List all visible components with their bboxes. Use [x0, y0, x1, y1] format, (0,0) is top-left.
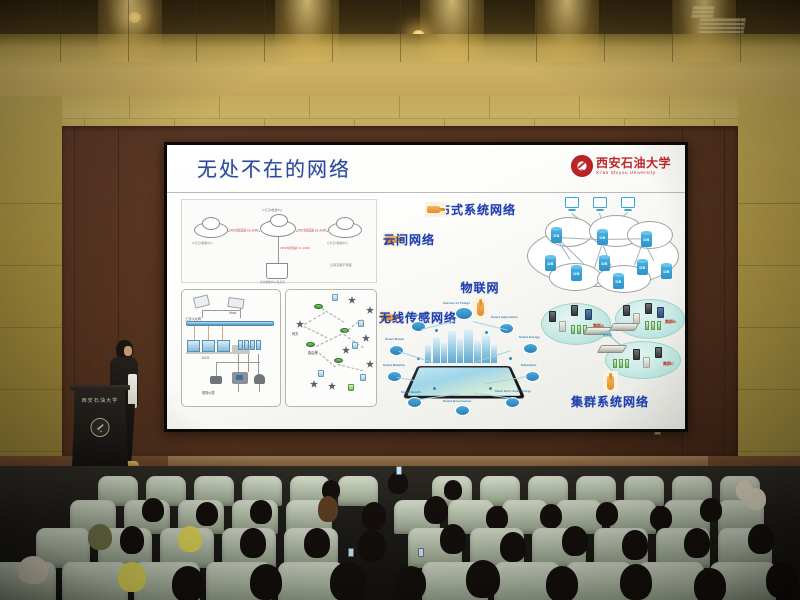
stone-tile [0, 204, 62, 266]
audience-head [358, 530, 386, 562]
iot-link-dot [509, 357, 512, 360]
cloud-shape [270, 214, 288, 227]
presentation-slide: 无处不在的网络 西安石油大学 Xi'an Shiyou University [167, 145, 685, 429]
label-iot-text: 物联网 [457, 279, 503, 296]
diagram-industrial: Host 工业以太网 DCS [181, 289, 281, 407]
wall-panel-seam [536, 0, 537, 62]
db-node: DB [571, 267, 582, 281]
audience-head [196, 502, 218, 526]
iot-caption: Open Data [407, 313, 423, 317]
server-node [643, 357, 650, 368]
audience-head [766, 562, 798, 598]
host-label: Host [229, 311, 236, 315]
diagram-cluster: 集群A 集群B 集群C [541, 297, 685, 381]
audience-head [684, 528, 710, 558]
sensor-antenna-icon [342, 346, 350, 354]
io-card [238, 340, 243, 350]
server-node [645, 303, 652, 314]
city-building [441, 343, 447, 363]
field-link [258, 354, 259, 376]
db-node: DB [545, 257, 556, 271]
link-label: VPN/专线链路 10~100M [297, 228, 327, 232]
audience-head [88, 524, 112, 550]
storage-rack [577, 325, 581, 334]
audience-head [388, 472, 408, 494]
audience-head [18, 556, 48, 584]
cloud-shape [202, 217, 220, 230]
iot-caption: Smart Health [401, 390, 421, 394]
iot-caption: Smart Grid / Smart Energy [495, 390, 531, 393]
presenter-scarf [128, 374, 137, 408]
field-link [216, 362, 260, 363]
iot-caption: Smart Governance [443, 399, 471, 403]
sensor-node [348, 384, 354, 391]
router-node [306, 342, 315, 347]
label-cluster-text: 集群系统网络 [555, 393, 665, 410]
university-seal-icon [571, 155, 593, 177]
db-node: DB [613, 275, 624, 289]
server-node [657, 307, 664, 318]
stone-tile [738, 328, 800, 390]
stone-tile [738, 142, 800, 204]
wsn-link [316, 334, 342, 347]
iot-caption: Education [521, 363, 536, 367]
storage-rack [613, 359, 617, 368]
logo-text-block: 西安石油大学 Xi'an Shiyou University [596, 157, 671, 176]
label-distributed: 分布式系统网络 [425, 201, 516, 218]
server-node [559, 321, 566, 332]
sensor-antenna-icon [366, 306, 374, 314]
diagram-caption: 云间互联示意图 [330, 263, 352, 267]
sensor-antenna-icon [310, 380, 318, 388]
io-card [256, 340, 261, 350]
audience-head [240, 528, 266, 558]
valve-icon [254, 374, 265, 384]
audience-head [444, 480, 462, 500]
stone-tile [0, 142, 62, 204]
university-logo: 西安石油大学 Xi'an Shiyou University [571, 155, 671, 177]
client-monitor-icon [565, 197, 579, 208]
io-card [244, 340, 249, 350]
wall-panel-seam [60, 0, 61, 62]
net-link [202, 310, 203, 318]
cloud-caption: 公有云B数据中心 [262, 208, 283, 212]
iot-node [523, 343, 538, 354]
city-building [464, 329, 473, 363]
iot-caption: Smart Energy [519, 335, 540, 339]
cloud-caption: 公有云C数据中心 [327, 241, 348, 245]
slide-title: 无处不在的网络 [197, 153, 351, 182]
sensor-antenna-icon [362, 334, 370, 342]
instrument-stem [259, 384, 260, 392]
wall-light-glow [535, 0, 599, 62]
audience-phone [348, 548, 354, 557]
server-node [633, 349, 640, 360]
audience-head [622, 530, 648, 560]
net-link [194, 326, 195, 340]
city-building [448, 331, 456, 363]
audience-head [620, 564, 652, 600]
db-node: DB [597, 231, 608, 245]
db-node: DB [641, 233, 652, 247]
wall-light-glow [275, 0, 339, 62]
pointing-hand-icon [603, 371, 618, 392]
wsn-link [321, 308, 344, 323]
audience-head [748, 524, 774, 554]
instrument-display [236, 375, 243, 380]
gateway-label: 网关 [292, 331, 298, 336]
db-node: DB [661, 265, 672, 279]
pointing-hand-icon [425, 202, 446, 217]
instrument-stem [238, 384, 239, 392]
audience-head [120, 526, 144, 554]
slide-header: 无处不在的网络 西安石油大学 Xi'an Shiyou University [167, 145, 685, 193]
sensor-antenna-icon [348, 296, 356, 304]
label-intercloud: 云间网络 [383, 231, 435, 248]
podium-emblem-icon [91, 418, 110, 437]
server-node [623, 305, 630, 316]
storage-rack [625, 359, 629, 368]
field-link [248, 354, 249, 372]
dcs-label: DCS [202, 356, 209, 360]
dcs-unit [187, 340, 200, 352]
storage-rack [645, 321, 649, 330]
audience-head [440, 524, 466, 554]
cloud-link [278, 237, 279, 264]
logo-name-cn: 西安石油大学 [596, 157, 671, 169]
iot-caption: Internet of Things [443, 301, 470, 305]
client-monitor-icon [593, 197, 607, 208]
audience-head [466, 560, 500, 598]
diagram-iot: Internet of Things Open Data Smart Agric… [381, 299, 549, 421]
client-monitor-icon [621, 197, 635, 208]
iot-node [411, 321, 426, 332]
ethernet-label: 工业以太网 [185, 316, 201, 321]
logo-name-en: Xi'an Shiyou University [596, 171, 671, 176]
city-building [457, 339, 463, 363]
diagram-intercloud: VPN/专线链路 10~100M VPN/专线链路 10~100M VPN/专线… [181, 199, 377, 283]
iot-link-dot [435, 329, 438, 332]
audience-head [694, 568, 726, 600]
dcs-unit [217, 340, 230, 352]
audience-area [0, 466, 800, 600]
audience-head [700, 498, 722, 522]
ethernet-bus [186, 321, 274, 326]
db-node: DB [599, 257, 610, 271]
dcs-rail [186, 352, 232, 354]
wall-light-glow [420, 0, 484, 62]
cloud-caption: 公有云A数据中心 [192, 241, 213, 245]
net-link [240, 308, 241, 318]
sensor-node [318, 370, 324, 377]
sensor-node [332, 294, 338, 301]
iot-caption: Smart Agriculture [491, 315, 518, 319]
diagram-distributed: DB DB DB DB DB DB DB DB DB [519, 193, 685, 303]
router-node [334, 358, 343, 363]
stone-tile [220, 96, 310, 119]
io-card [250, 340, 255, 350]
wall-panel-seam [400, 0, 401, 62]
city-building [433, 337, 440, 363]
wall-panel-seam [332, 0, 333, 62]
audience-head [250, 500, 272, 524]
iot-link-dot [489, 387, 492, 390]
audience-head [330, 562, 366, 600]
audience-head [596, 502, 618, 526]
wall-panel-seam [604, 0, 605, 62]
stone-tile [580, 96, 670, 119]
field-link [216, 362, 217, 376]
wall-light-glow [672, 0, 736, 62]
right-wall [738, 96, 800, 468]
wall-panel-seam [672, 0, 673, 62]
iot-link [421, 320, 456, 329]
audience-head [500, 532, 526, 562]
stone-tile [310, 96, 400, 119]
sensor-antenna-icon [366, 360, 374, 368]
stone-tile [738, 266, 800, 328]
stone-tile [0, 328, 62, 390]
cluster-tag: 集群C [663, 361, 674, 367]
diagram-wsn: 网关 路由器 [285, 289, 377, 407]
iot-hub-node [455, 307, 473, 320]
audience-phone [418, 548, 424, 557]
wall-panel-seam [468, 0, 469, 62]
db-node: DB [637, 261, 648, 275]
podium-name-text: 西安石油大学 [82, 397, 119, 404]
iot-link-dot [485, 331, 488, 334]
projection-screen: 无处不在的网络 西安石油大学 Xi'an Shiyou University [164, 142, 688, 432]
server-node [585, 309, 592, 320]
panel-seam [724, 126, 725, 456]
podium: 西安石油大学 [72, 388, 128, 466]
sensor-antenna-icon [328, 382, 336, 390]
datacenter-shape [266, 263, 288, 279]
stage-floor-edge [168, 456, 708, 466]
net-link [208, 326, 209, 340]
field-instruments-label: 现场仪表 [202, 390, 215, 395]
cluster-tag: 集群B [665, 319, 676, 325]
audience-head [250, 564, 282, 600]
audience-head [172, 566, 204, 600]
dcs-unit [202, 340, 215, 352]
presenter-face [124, 346, 132, 356]
server-node [549, 311, 556, 322]
stone-tile [0, 266, 62, 328]
wall-panel-seam [196, 0, 197, 62]
net-link [222, 326, 223, 340]
wsn-link [304, 326, 328, 338]
wsn-link [304, 312, 325, 325]
datacenter-caption: 企业数据中心/私有云 [260, 280, 285, 284]
iot-node [455, 405, 470, 416]
storage-rack [657, 321, 661, 330]
left-wall [0, 96, 62, 468]
link-label: VPN/专线链路 10~100M [280, 246, 310, 250]
cloud-shape [336, 217, 354, 230]
db-node: DB [551, 229, 562, 243]
server-node [655, 347, 662, 358]
iot-caption: Smart Retail [385, 337, 404, 341]
audience-head [562, 526, 588, 556]
audience-head [142, 498, 164, 522]
laptop-icon [227, 297, 244, 309]
field-instrument-icon [210, 376, 222, 384]
wall-panel-seam [128, 0, 129, 62]
audience-head [546, 566, 578, 600]
audience-head [540, 504, 562, 528]
stone-tile [130, 96, 220, 119]
audience-head [118, 562, 146, 592]
audience-phone [396, 466, 402, 475]
wsn-link [338, 364, 363, 371]
audience-head [486, 506, 508, 530]
link-label: VPN/专线链路 10~100M [229, 228, 259, 232]
iot-link-dot [433, 387, 436, 390]
computer-icon [193, 294, 210, 308]
storage-rack [651, 321, 655, 330]
audience-head [746, 488, 766, 510]
label-intercloud-text: 云间网络 [383, 231, 435, 248]
audience-head [318, 496, 338, 522]
stone-tile [738, 390, 800, 452]
iot-caption: Smart Mobility [383, 363, 405, 367]
audience-head [178, 526, 202, 552]
audience-head [650, 506, 672, 530]
wsn-link [315, 350, 336, 367]
stone-tile [400, 96, 490, 119]
storage-rack [571, 325, 575, 334]
wall-light-glow [98, 0, 162, 62]
audience-head [362, 502, 386, 530]
stone-tile [738, 204, 800, 266]
iot-node [525, 371, 540, 382]
slide-body: VPN/专线链路 10~100M VPN/专线链路 10~100M VPN/专线… [167, 193, 685, 429]
auditorium-scene: 无处不在的网络 西安石油大学 Xi'an Shiyou University [0, 0, 800, 600]
iot-node [389, 345, 404, 356]
network-switch [597, 345, 627, 353]
storage-rack [619, 359, 623, 368]
stone-tile [0, 390, 62, 452]
audience-head [304, 528, 330, 558]
audience-head [396, 566, 426, 600]
stone-tile [490, 96, 580, 119]
sensor-node [360, 374, 366, 381]
label-cluster: 集群系统网络 [555, 371, 665, 410]
wall-panel-seam [740, 0, 741, 62]
audience-head [424, 496, 448, 524]
cluster-link [606, 333, 620, 345]
wall-panel-seam [264, 0, 265, 62]
server-node [571, 305, 578, 316]
